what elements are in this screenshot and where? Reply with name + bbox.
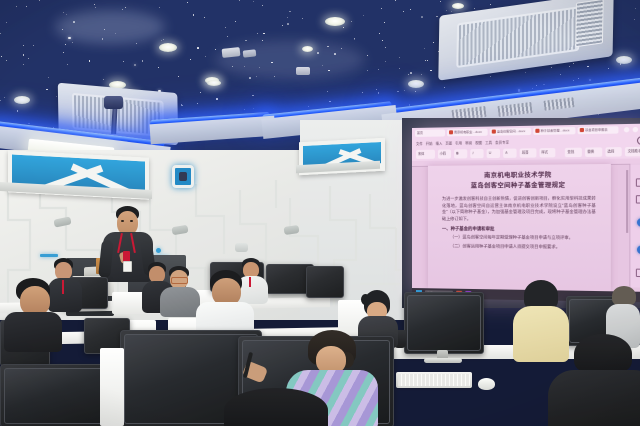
monitor-base	[424, 358, 462, 363]
replace-button[interactable]: 替换	[585, 147, 602, 157]
find-button[interactable]: 查找	[565, 148, 582, 158]
menu-start[interactable]: 开始	[426, 141, 433, 146]
side-panel-icon[interactable]	[636, 195, 640, 203]
doc-heading-1: 一、种子基金的申请和审批	[442, 226, 596, 233]
projector-icon	[104, 96, 123, 109]
presenter-eye	[121, 220, 124, 222]
glasses-icon	[171, 277, 188, 284]
id-badge	[123, 261, 132, 272]
menu-member[interactable]: 会员专享	[495, 139, 509, 144]
ceiling-downlight	[452, 3, 464, 9]
menu-insert[interactable]: 插入	[436, 141, 443, 146]
ceiling-speaker	[296, 67, 310, 75]
nebula-glow	[215, 40, 365, 80]
monitor-back	[306, 266, 344, 298]
ac-grille	[456, 6, 580, 68]
attendee-hair	[612, 286, 636, 306]
doc-item-2: （二）创客运用种子基金项目申请人须提交项目申报要求。	[442, 243, 596, 251]
ceiling-downlight	[159, 43, 177, 52]
minimize-icon[interactable]	[624, 127, 629, 132]
vertical-ruler	[626, 170, 628, 233]
italic-button[interactable]: I	[470, 149, 483, 158]
ceiling-fixture	[243, 49, 257, 57]
attendee-foreground-black	[548, 334, 640, 426]
tab-doc-2[interactable]: 蓝岛创客空间…docx	[490, 128, 531, 136]
attendee-ponytail	[361, 294, 370, 305]
doc-paragraph-1: 为进一步激发创客科技自主创新热情，促进创客创新项目，孵化实用型科技成果转化落地，…	[442, 195, 596, 222]
side-panel-icon[interactable]	[636, 269, 640, 278]
menu-view[interactable]: 视图	[475, 140, 482, 145]
restore-icon[interactable]	[633, 127, 638, 132]
ceiling-downlight	[616, 56, 632, 64]
right-side-pane[interactable]	[629, 164, 640, 288]
font-color-button[interactable]: A	[503, 149, 516, 158]
doc-item-1: （一）蓝岛创客空间每年定期受理种子基金项目申请与立项评审。	[442, 235, 596, 243]
monitor-foreground-farleft	[0, 364, 110, 426]
tab-doc-4[interactable]: 基金项目申报表	[578, 126, 619, 134]
bold-button[interactable]: B	[454, 149, 467, 158]
menu-review[interactable]: 审阅	[465, 140, 472, 145]
keyboard[interactable]	[396, 372, 472, 388]
attendee-hair	[224, 388, 328, 426]
ac-vent	[575, 0, 604, 47]
font-size-select[interactable]: 小四	[438, 149, 452, 158]
tab-doc-3[interactable]: 种子基金管理…docx	[533, 127, 575, 135]
paragraph-button[interactable]: 段落	[520, 148, 536, 157]
ceiling-downlight	[408, 80, 424, 88]
document-page[interactable]: 南京机电职业技术学院 蓝岛创客空间种子基金管理规定 为进一步激发创客科技自主创新…	[428, 164, 611, 291]
font-family-select[interactable]: 宋体	[416, 150, 435, 159]
doc-assistant-button[interactable]: 文档助手	[625, 147, 640, 157]
ceiling-downlight	[302, 46, 313, 52]
underline-button[interactable]: U	[487, 149, 500, 158]
presenter-eye	[130, 220, 133, 222]
monitor-screen-off	[407, 295, 481, 351]
attendee-hair	[574, 334, 632, 374]
wall-speaker	[235, 243, 248, 252]
monitor-screen-off	[4, 368, 106, 424]
doc-title-line2: 蓝岛创客空间种子基金管理规定	[442, 181, 596, 192]
tab-home[interactable]: 首页	[415, 129, 445, 137]
side-panel-icon[interactable]	[636, 178, 640, 186]
attendee-front-left-dark	[4, 278, 62, 348]
lanyard-strap	[62, 280, 64, 294]
styles-button[interactable]: 样式	[539, 148, 555, 157]
monitor-right-front	[404, 292, 484, 354]
attendee-torso	[548, 370, 640, 426]
select-button[interactable]: 选择	[605, 147, 622, 157]
menu-page[interactable]: 页面	[445, 140, 452, 145]
mouse[interactable]	[478, 378, 495, 390]
ceiling-downlight	[14, 96, 30, 104]
projection-screen[interactable]: 首页 南京机电职业…docx 蓝岛创客空间…docx 种子基金管理…docx 基…	[412, 124, 640, 303]
classroom-photo-scene: 首页 南京机电职业…docx 蓝岛创客空间…docx 种子基金管理…docx 基…	[0, 0, 640, 426]
menu-reference[interactable]: 引用	[455, 140, 462, 145]
attendee-grey-shirt	[160, 266, 200, 314]
desk-divider-foreground	[100, 348, 124, 426]
nebula-glow	[55, 10, 165, 44]
attendee-torso	[4, 312, 62, 352]
attendee-bottom-center	[224, 388, 328, 426]
menu-tools[interactable]: 工具	[485, 140, 492, 145]
attendee-torso	[160, 287, 200, 317]
menu-file[interactable]: 文件	[416, 141, 423, 146]
tab-doc-1[interactable]: 南京机电职业…docx	[447, 129, 488, 137]
ceiling-downlight	[207, 80, 221, 86]
wall-control-panel[interactable]	[172, 165, 194, 188]
wall-accent-light	[40, 254, 58, 257]
ceiling-fixture	[222, 47, 241, 58]
ceiling-downlight	[325, 17, 345, 26]
